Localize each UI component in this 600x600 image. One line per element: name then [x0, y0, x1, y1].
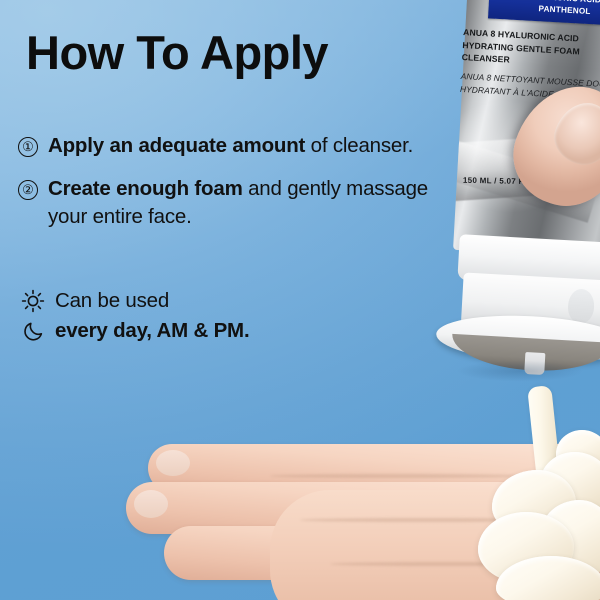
step-number-1: ①	[18, 137, 38, 157]
step-number-2: ②	[18, 180, 38, 200]
step-text-2: Create enough foam and gently massage yo…	[48, 175, 468, 230]
step-item-1: ① Apply an adequate amount of cleanser.	[18, 132, 468, 159]
fingernail-index	[156, 450, 190, 476]
promotional-image: HYALURONIC ACID 8 PANTHENOL ANUA 8 HYALU…	[0, 0, 600, 600]
step-text-1: Apply an adequate amount of cleanser.	[48, 132, 413, 159]
usage-text-night: every day, AM & PM.	[55, 319, 249, 343]
usage-text-day: Can be used	[55, 289, 169, 313]
sun-icon	[18, 288, 48, 314]
page-title: How To Apply	[26, 28, 328, 77]
step-item-2: ② Create enough foam and gently massage …	[18, 175, 468, 230]
usage-row-day: Can be used	[18, 286, 249, 316]
fingernail-middle	[134, 490, 168, 518]
step-1-rest: of cleanser.	[305, 134, 413, 157]
palm-crease-1	[270, 474, 520, 478]
steps-list: ① Apply an adequate amount of cleanser. …	[18, 132, 468, 246]
cap-shadow	[430, 356, 600, 386]
usage-row-night: every day, AM & PM.	[18, 316, 249, 346]
moon-icon	[18, 318, 48, 344]
step-2-emphasis: Create enough foam	[48, 177, 243, 200]
step-1-emphasis: Apply an adequate amount	[48, 134, 305, 157]
usage-frequency: Can be used every day, AM & PM.	[18, 286, 249, 346]
